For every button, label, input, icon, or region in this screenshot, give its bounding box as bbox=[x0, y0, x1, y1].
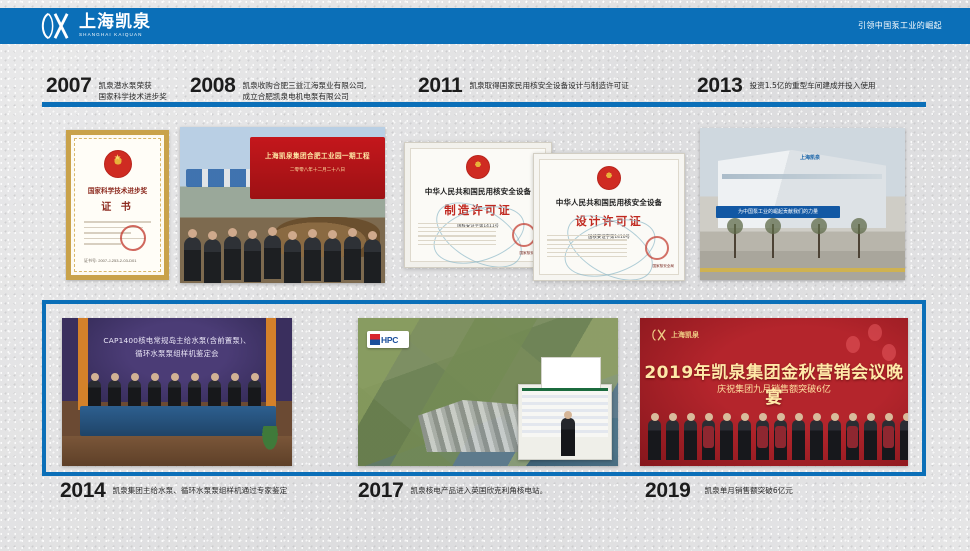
slide-canvas: 上海凯泉 SHANGHAI KAIQUAN 引领中国泵工业的崛起 2007 凯泉… bbox=[0, 0, 970, 551]
floor-carpet bbox=[62, 436, 292, 466]
milestone-year: 2011 bbox=[418, 76, 462, 96]
image-banquet-2019: 上海凯泉 2019年凯泉集团金秋营销会议晚宴 庆祝集团九月销售额突破6亿 bbox=[640, 318, 908, 466]
milestone-2017: 2017 凯泉核电产品进入英国欣克利角核电站。 bbox=[358, 481, 547, 501]
road-marking bbox=[700, 268, 905, 272]
hpc-badge-text: HPC bbox=[381, 335, 398, 345]
milestone-2013: 2013 投资1.5亿的重型车间建成并投入使用 bbox=[697, 76, 876, 96]
crowd-figures bbox=[180, 221, 385, 283]
banner-line-1: 上海凯泉集团合肥工业园一期工程 bbox=[254, 150, 381, 160]
image-manufacture-license-2011: 中华人民共和国民用核安全设备 制造许可证 国核安证字第1411号 国家核安全局 bbox=[404, 142, 552, 268]
logo-text-cn: 上海凯泉 bbox=[79, 14, 151, 31]
milestone-desc: 凯泉核电产品进入英国欣克利角核电站。 bbox=[411, 486, 548, 497]
milestone-desc: 凯泉单月销售额突破6亿元 bbox=[705, 486, 793, 497]
milestone-desc: 凯泉收购合肥三益江海泵业有限公司, 成立合肥凯泉电机电泵有限公司 bbox=[243, 81, 367, 102]
factory-logo-text: 上海凯泉 bbox=[800, 154, 820, 161]
tree-decoration bbox=[858, 224, 860, 258]
potted-plant bbox=[260, 426, 280, 454]
milestone-2007: 2007 凯泉潜水泵荣获 国家科学技术进步奖 bbox=[46, 76, 167, 102]
image-hinkley-point-2017: HPC bbox=[358, 318, 618, 466]
kaiquan-logo-icon bbox=[650, 328, 668, 342]
image-factory-2013: 上海凯泉 为中国泵工业的崛起贡献我们的力量 bbox=[700, 128, 905, 280]
certificate-subtitle: 证 书 bbox=[101, 198, 133, 213]
factory-banner: 为中国泵工业的崛起贡献我们的力量 bbox=[716, 206, 840, 218]
factory-window-strip bbox=[722, 174, 882, 179]
inset-event-photo bbox=[518, 384, 612, 460]
milestone-year: 2008 bbox=[190, 76, 236, 96]
banner-line-2: 二零零八年十二月二十八日 bbox=[254, 167, 381, 173]
company-logo: 上海凯泉 SHANGHAI KAIQUAN bbox=[36, 9, 151, 43]
factory-banner-text: 为中国泵工业的崛起贡献我们的力量 bbox=[716, 206, 840, 218]
stage-edge-left bbox=[78, 318, 88, 410]
milestone-2014: 2014 凯泉集团主给水泵、循环水泵泵组样机通过专家鉴定 bbox=[60, 481, 287, 501]
conference-line-2: 循环水泵泵组样机鉴定会 bbox=[92, 348, 262, 359]
national-emblem-icon bbox=[466, 155, 490, 179]
hpc-logo-icon: HPC bbox=[367, 331, 409, 348]
banquet-logo-text: 上海凯泉 bbox=[671, 330, 699, 340]
milestone-desc: 凯泉取得国家民用核安全设备设计与制造许可证 bbox=[469, 81, 628, 92]
license-seal-icon bbox=[645, 236, 669, 260]
license-body-lines bbox=[547, 235, 627, 260]
tree-decoration bbox=[734, 224, 736, 258]
stage-edge-right bbox=[266, 318, 276, 410]
license-seal-label: 国家核安全局 bbox=[652, 264, 674, 269]
balloon-decoration bbox=[846, 336, 860, 353]
seated-panel bbox=[88, 380, 261, 406]
page-header: 上海凯泉 SHANGHAI KAIQUAN 引领中国泵工业的崛起 bbox=[0, 8, 970, 44]
image-groundbreaking-2008: 上海凯泉集团合肥工业园一期工程 二零零八年十二月二十八日 bbox=[180, 127, 385, 283]
image-conference-2014: CAP1400核电常规岛主给水泵(含前置泵)、 循环水泵泵组样机鉴定会 bbox=[62, 318, 292, 466]
milestone-2011: 2011 凯泉取得国家民用核安全设备设计与制造许可证 bbox=[418, 76, 629, 96]
header-slogan: 引领中国泵工业的崛起 bbox=[858, 8, 942, 44]
banquet-subtitle: 庆祝集团九月销售额突破6亿 bbox=[640, 382, 908, 395]
ceremony-banner: 上海凯泉集团合肥工业园一期工程 二零零八年十二月二十八日 bbox=[250, 137, 385, 199]
milestone-year: 2014 bbox=[60, 481, 106, 501]
attendee-row bbox=[648, 420, 908, 460]
national-emblem-icon bbox=[597, 166, 621, 190]
milestone-desc: 投资1.5亿的重型车间建成并投入使用 bbox=[750, 81, 876, 92]
factory-ground bbox=[700, 232, 905, 280]
milestone-year: 2013 bbox=[697, 76, 743, 96]
person-figure bbox=[561, 418, 575, 456]
certificate-seal-icon bbox=[120, 225, 146, 251]
tree-decoration bbox=[818, 224, 820, 258]
license-title: 中华人民共和国民用核安全设备 bbox=[425, 186, 531, 197]
national-emblem-icon bbox=[104, 150, 132, 178]
image-design-license-2011: 中华人民共和国民用核安全设备 设计许可证 国核安证字第1410号 国家核安全局 bbox=[533, 153, 685, 281]
inset-white-panel bbox=[541, 357, 601, 389]
conference-line-1: CAP1400核电常规岛主给水泵(含前置泵)、 bbox=[92, 335, 262, 346]
banquet-logo: 上海凯泉 bbox=[650, 328, 699, 342]
tree-decoration bbox=[772, 224, 774, 258]
image-certificate-2007: 国家科学技术进步奖 证 书 证书号: 2007-J-253-2-03-D01 bbox=[66, 130, 169, 280]
milestone-2008: 2008 凯泉收购合肥三益江海泵业有限公司, 成立合肥凯泉电机电泵有限公司 bbox=[190, 76, 366, 102]
kaiquan-logo-icon bbox=[36, 11, 74, 41]
milestone-year: 2007 bbox=[46, 76, 92, 96]
timeline-bar-top bbox=[42, 102, 926, 107]
conference-table bbox=[80, 406, 276, 436]
certificate-number: 证书号: 2007-J-253-2-03-D01 bbox=[84, 258, 136, 264]
milestone-year: 2017 bbox=[358, 481, 404, 501]
milestone-desc: 凯泉潜水泵荣获 国家科学技术进步奖 bbox=[99, 81, 167, 102]
certificate-title: 国家科学技术进步奖 bbox=[88, 185, 147, 195]
license-body-lines bbox=[418, 223, 496, 248]
milestone-year: 2019 bbox=[645, 481, 691, 501]
balloon-decoration bbox=[868, 324, 882, 341]
milestone-desc: 凯泉集团主给水泵、循环水泵泵组样机通过专家鉴定 bbox=[113, 486, 288, 497]
license-title: 中华人民共和国民用核安全设备 bbox=[556, 197, 662, 208]
milestone-2019: 2019 凯泉单月销售额突破6亿元 bbox=[645, 481, 793, 501]
logo-text-en: SHANGHAI KAIQUAN bbox=[79, 33, 151, 38]
